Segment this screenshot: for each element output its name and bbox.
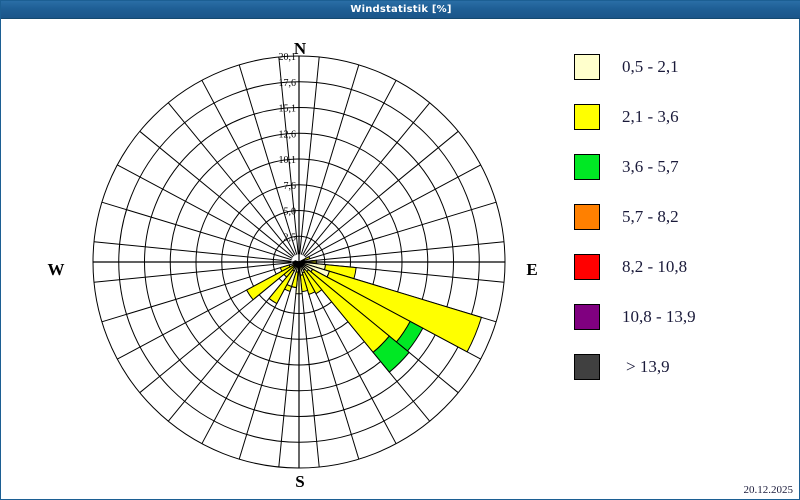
grid-spoke [279,270,298,467]
legend-label: 8,2 - 10,8 [622,257,687,277]
radial-tick-label: 12,6 [279,129,297,140]
radial-tick-label: 15,1 [279,104,297,115]
compass-label-east: E [502,260,562,280]
radial-tick-label: 5,0 [284,207,297,218]
polar-axis-lines [93,56,505,468]
legend-label: > 13,9 [626,357,670,377]
grid-spoke [307,242,504,261]
grid-spoke [304,103,430,256]
legend-swatch [574,304,600,330]
grid-spoke [300,270,319,467]
window-content: 2,55,07,610,112,615,117,620,1 N S W E 0,… [2,20,799,499]
windstatistik-window: Windstatistik [%] 2,55,07,610,112,615,11… [0,0,800,500]
radial-tick-label: 10,1 [279,155,297,166]
grid-spoke [117,165,292,258]
grid-spoke [305,131,458,257]
legend-row: 8,2 - 10,8 [574,242,794,292]
grid-spoke [140,131,293,257]
legend-label: 0,5 - 2,1 [622,57,679,77]
legend-label: 5,7 - 8,2 [622,207,679,227]
legend-row: 2,1 - 3,6 [574,92,794,142]
legend-row: 10,8 - 13,9 [574,292,794,342]
legend-row: 3,6 - 5,7 [574,142,794,192]
grid-spoke [303,80,396,255]
grid-spoke [300,57,319,254]
legend-swatch [574,154,600,180]
grid-spoke [94,263,291,282]
grid-spoke [306,165,481,258]
legend-swatch [574,354,600,380]
radial-tick-label: 7,6 [284,181,297,192]
windrose-svg: 2,55,07,610,112,615,117,620,1 [2,20,562,490]
radial-tick-label: 17,6 [279,78,297,89]
legend-label: 2,1 - 3,6 [622,107,679,127]
window-titlebar: Windstatistik [%] [1,1,800,19]
legend-swatch [574,204,600,230]
legend-row: 5,7 - 8,2 [574,192,794,242]
compass-label-west: W [26,260,86,280]
legend-label: 10,8 - 13,9 [622,307,696,327]
legend-swatch [574,104,600,130]
date-stamp: 20.12.2025 [744,484,794,496]
windrose-petals [247,257,482,372]
compass-label-south: S [270,472,330,492]
radial-tick-label: 2,5 [284,232,297,243]
legend-swatch [574,54,600,80]
legend-swatch [574,254,600,280]
legend-row: > 13,9 [574,342,794,392]
windrose-plot: 2,55,07,610,112,615,117,620,1 N S W E [2,20,562,490]
compass-label-north: N [270,39,330,59]
legend-label: 3,6 - 5,7 [622,157,679,177]
speed-legend: 0,5 - 2,12,1 - 3,63,6 - 5,75,7 - 8,28,2 … [574,42,794,392]
grid-spoke [94,242,291,261]
grid-spoke [168,103,294,256]
legend-row: 0,5 - 2,1 [574,42,794,92]
window-title: Windstatistik [%] [1,1,800,19]
